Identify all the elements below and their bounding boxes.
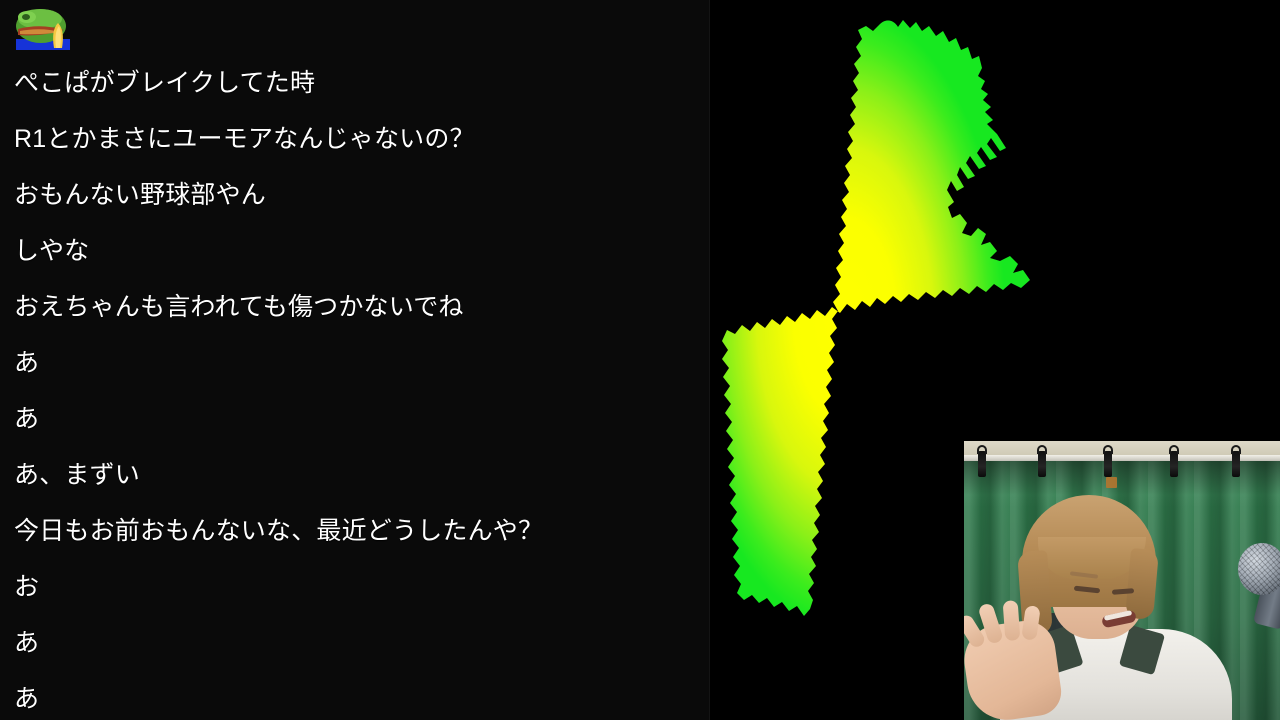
chat-message-text: あ [14, 630, 39, 658]
curtain-clip-icon [1170, 451, 1178, 477]
chat-message-text: あ [14, 686, 39, 714]
stream-layout-root: ぺこぱがブレイクしてた時R1とかまさにユーモアなんじゃないの？おもんない野球部や… [0, 0, 1280, 720]
chat-message-text: お [14, 574, 39, 602]
curtain-clip-icon [1038, 451, 1046, 477]
curtain-clip-icon [1104, 451, 1112, 477]
chat-message-row[interactable]: ぺこぱがブレイクしてた時 [0, 56, 710, 112]
raised-hand [964, 617, 1064, 720]
chat-message-row[interactable]: しやな [0, 224, 710, 280]
chat-message-row[interactable]: おえちゃんも言われても傷つかないでね [0, 280, 710, 336]
chat-message-row[interactable]: 今日もお前おもんないな、最近どうしたんや？ [0, 504, 710, 560]
chat-panel[interactable]: ぺこぱがブレイクしてた時R1とかまさにユーモアなんじゃないの？おもんない野球部や… [0, 0, 710, 720]
chat-message-text: 今日もお前おもんないな、最近どうしたんや？ [14, 518, 543, 546]
chat-message-row[interactable] [0, 0, 710, 56]
chat-message-row[interactable]: あ [0, 672, 710, 720]
chat-message-text: R1とかまさにユーモアなんじゃないの？ [14, 126, 475, 154]
curtain-clip-icon [978, 451, 986, 477]
chat-message-text: しやな [14, 238, 89, 266]
chat-message-row[interactable]: あ、まずい [0, 448, 710, 504]
chat-message-row[interactable]: お [0, 560, 710, 616]
microphone-mesh [1238, 543, 1280, 595]
chat-message-text: あ [14, 350, 39, 378]
chat-message-text: おもんない野球部やん [14, 182, 266, 210]
chat-message-row[interactable]: あ [0, 616, 710, 672]
pepe-praying-emote [14, 6, 72, 52]
chat-message-text: ぺこぱがブレイクしてた時 [14, 70, 315, 98]
chat-message-row[interactable]: おもんない野球部やん [0, 168, 710, 224]
chat-message-text: おえちゃんも言われても傷つかないでね [14, 294, 464, 322]
webcam-overlay[interactable] [964, 441, 1280, 720]
chat-message-row[interactable]: R1とかまさにユーモアなんじゃないの？ [0, 112, 710, 168]
chat-message-row[interactable]: あ [0, 336, 710, 392]
chat-message-row[interactable]: あ [0, 392, 710, 448]
curtain-clip-icon [1232, 451, 1240, 477]
chat-message-text: あ [14, 406, 39, 434]
curtain-tag [1106, 477, 1117, 488]
chat-message-text: あ、まずい [14, 462, 140, 490]
chat-message-list[interactable]: ぺこぱがブレイクしてた時R1とかまさにユーモアなんじゃないの？おもんない野球部や… [0, 0, 710, 720]
